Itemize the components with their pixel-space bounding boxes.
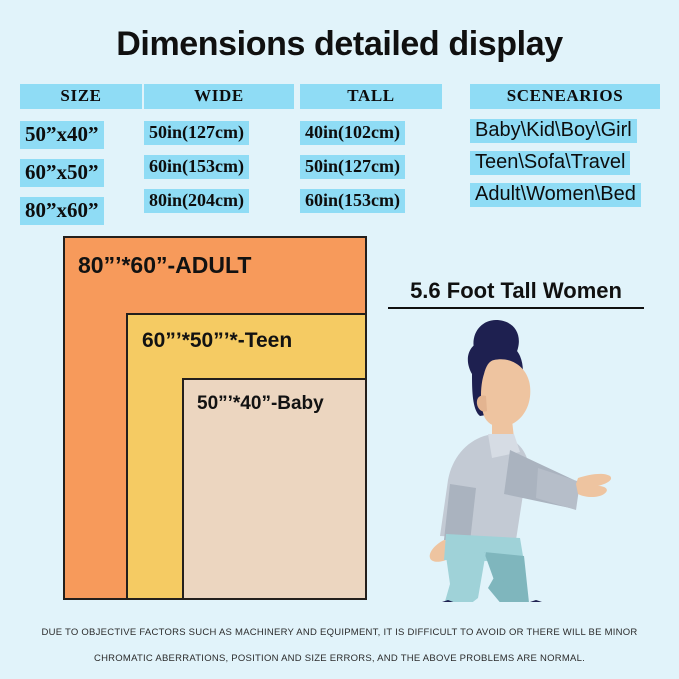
table-cell-size-row2: 60”x50” bbox=[20, 159, 104, 187]
reference-figure-block: 5.6 Foot Tall Women bbox=[388, 278, 644, 309]
table-cell-wide-row2: 60in(153cm) bbox=[144, 155, 249, 179]
size-rect-adult-label: 80”’*60”-ADULT bbox=[78, 252, 251, 279]
size-rect-baby: 50”’*40”-Baby bbox=[182, 378, 367, 600]
table-column-wide: WIDE 50in(127cm) 60in(153cm) 80in(204cm) bbox=[144, 84, 294, 213]
table-cell-scenarios-row2: Teen\Sofa\Travel bbox=[470, 151, 630, 175]
table-cell-tall-row1: 40in(102cm) bbox=[300, 121, 405, 145]
disclaimer-text: DUE TO OBJECTIVE FACTORS SUCH AS MACHINE… bbox=[0, 620, 679, 672]
specification-table: SIZE 50”x40” 60”x50” 80”x60” WIDE 50in(1… bbox=[0, 84, 679, 210]
column-header-tall: TALL bbox=[300, 84, 442, 109]
table-cell-wide-row3: 80in(204cm) bbox=[144, 189, 249, 213]
face bbox=[481, 359, 530, 427]
size-rect-baby-label: 50”’*40”-Baby bbox=[197, 393, 324, 415]
reference-figure-title: 5.6 Foot Tall Women bbox=[388, 278, 644, 309]
hand-front bbox=[576, 474, 611, 497]
table-column-size: SIZE 50”x40” 60”x50” 80”x60” bbox=[20, 84, 142, 225]
page-title: Dimensions detailed display bbox=[0, 25, 679, 64]
table-cell-wide-row1: 50in(127cm) bbox=[144, 121, 249, 145]
column-header-scenarios: SCENEARIOS bbox=[470, 84, 660, 109]
table-column-scenarios: SCENEARIOS Baby\Kid\Boy\Girl Teen\Sofa\T… bbox=[470, 84, 660, 207]
leg-front bbox=[442, 552, 486, 602]
table-cell-scenarios-row3: Adult\Women\Bed bbox=[470, 183, 641, 207]
disclaimer-line-1: DUE TO OBJECTIVE FACTORS SUCH AS MACHINE… bbox=[0, 620, 679, 646]
table-column-tall: TALL 40in(102cm) 50in(127cm) 60in(153cm) bbox=[300, 84, 445, 213]
table-cell-size-row1: 50”x40” bbox=[20, 121, 104, 149]
column-header-wide: WIDE bbox=[144, 84, 294, 109]
column-header-size: SIZE bbox=[20, 84, 142, 109]
product-size-chart-page: Dimensions detailed display SIZE 50”x40”… bbox=[0, 0, 679, 679]
table-cell-size-row3: 80”x60” bbox=[20, 197, 104, 225]
table-cell-scenarios-row1: Baby\Kid\Boy\Girl bbox=[470, 119, 637, 143]
size-rect-teen-label: 60”’*50”’*-Teen bbox=[142, 329, 292, 353]
disclaimer-line-2: CHROMATIC ABERRATIONS, POSITION AND SIZE… bbox=[0, 646, 679, 672]
walking-woman-illustration bbox=[388, 312, 644, 602]
table-cell-tall-row3: 60in(153cm) bbox=[300, 189, 405, 213]
table-cell-tall-row2: 50in(127cm) bbox=[300, 155, 405, 179]
